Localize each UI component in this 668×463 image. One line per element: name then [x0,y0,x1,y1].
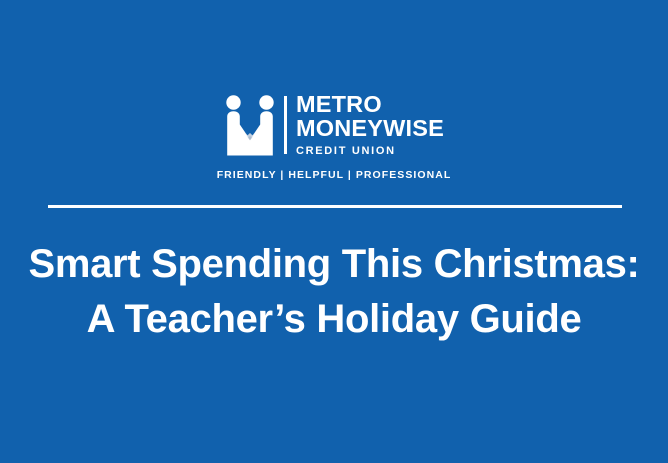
handshake-m-logo-icon [224,94,276,156]
wordmark-line-metro: METRO [296,93,444,117]
logo-row: METRO MONEYWISE CREDIT UNION [224,93,444,157]
wordmark-credit-union: CREDIT UNION [296,146,444,157]
title-line-1: Smart Spending This Christmas: [0,237,668,292]
logo-vertical-divider [284,96,287,154]
wordmark: METRO MONEYWISE CREDIT UNION [296,93,444,157]
title-line-2: A Teacher’s Holiday Guide [0,292,668,347]
brand-logo-lockup: METRO MONEYWISE CREDIT UNION FRIENDLY | … [0,93,668,181]
horizontal-divider-rule [48,205,622,208]
brand-tagline: FRIENDLY | HELPFUL | PROFESSIONAL [217,170,452,181]
wordmark-line-moneywise: MONEYWISE [296,117,444,141]
title-slide: METRO MONEYWISE CREDIT UNION FRIENDLY | … [0,0,668,463]
slide-title: Smart Spending This Christmas: A Teacher… [0,237,668,347]
